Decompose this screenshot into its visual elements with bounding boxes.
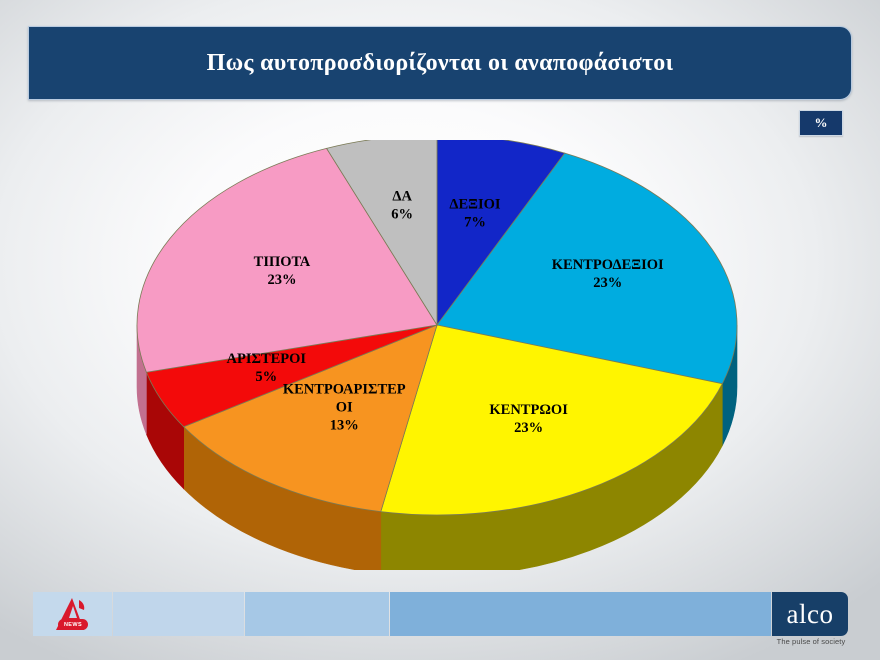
pie-top-faces (137, 140, 737, 515)
news-badge: NEWS (58, 619, 88, 630)
pie-chart-svg: ΔΕΞΙΟΙ7%ΚΕΝΤΡΟΔΕΞΙΟΙ23%ΚΕΝΤΡΩΟΙ23%ΚΕΝΤΡΟ… (0, 140, 880, 570)
alco-logo-text: alco (787, 601, 834, 628)
footer-segment-3 (390, 592, 771, 636)
footer-segment-1 (113, 592, 244, 636)
percent-unit-label: % (815, 115, 828, 131)
news-badge-label: NEWS (64, 622, 82, 628)
title-bar: Πως αυτοπροσδιορίζονται οι αναποφάσιστοι (28, 26, 852, 100)
pie-chart: ΔΕΞΙΟΙ7%ΚΕΝΤΡΟΔΕΞΙΟΙ23%ΚΕΝΤΡΩΟΙ23%ΚΕΝΤΡΟ… (0, 140, 880, 570)
page-title: Πως αυτοπροσδιορίζονται οι αναποφάσιστοι (207, 50, 674, 76)
alco-tagline: The pulse of society (772, 637, 850, 646)
alco-logo: alco (772, 592, 848, 636)
footer-bar: NEWS alco The pulse of society (0, 592, 880, 638)
slide-canvas: Πως αυτοπροσδιορίζονται οι αναποφάσιστοι… (0, 0, 880, 660)
footer-segment-2 (245, 592, 389, 636)
percent-unit-badge: % (799, 110, 843, 136)
